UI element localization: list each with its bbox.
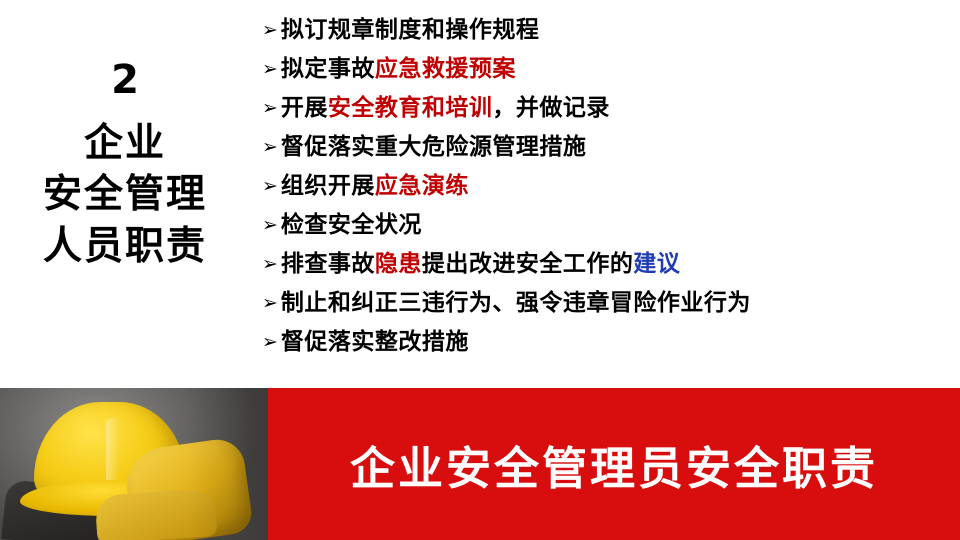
bullet-segment: 督促落实整改措施 <box>281 329 469 355</box>
bullet-item: ➢督促落实重大危险源管理措施 <box>262 133 952 166</box>
bullet-segment: ，并做记录 <box>492 95 610 121</box>
photo-vignette <box>0 388 268 540</box>
band-title-text: 企业安全管理员安全职责 <box>350 432 878 497</box>
bullet-item: ➢制止和纠正三违行为、强令违章冒险作业行为 <box>262 289 952 322</box>
bullet-arrow-icon: ➢ <box>262 138 278 157</box>
bullet-segment: 隐患 <box>375 251 422 277</box>
bullet-segment: 应急救援预案 <box>375 56 516 82</box>
left-title-panel: 2 企业 安全管理 人员职责 <box>0 0 250 388</box>
helmet-photo <box>0 388 268 540</box>
bullet-item: ➢拟定事故应急救援预案 <box>262 55 952 88</box>
bullet-segment: 排查事故 <box>281 251 375 277</box>
bullet-segment: 拟定事故 <box>281 56 375 82</box>
bullet-item: ➢督促落实整改措施 <box>262 328 952 361</box>
bullet-text: 拟订规章制度和操作规程 <box>281 16 540 46</box>
bullet-arrow-icon: ➢ <box>262 177 278 196</box>
bullet-arrow-icon: ➢ <box>262 255 278 274</box>
bullet-segment: 督促落实重大危险源管理措施 <box>281 134 587 160</box>
section-title-line-2: 安全管理 <box>43 169 207 220</box>
bullet-arrow-icon: ➢ <box>262 294 278 313</box>
bullet-segment: 拟订规章制度和操作规程 <box>281 17 540 43</box>
section-number: 2 <box>111 60 139 100</box>
bullet-list: ➢拟订规章制度和操作规程➢拟定事故应急救援预案➢开展安全教育和培训，并做记录➢督… <box>262 16 952 367</box>
bullet-arrow-icon: ➢ <box>262 216 278 235</box>
bullet-text: 检查安全状况 <box>281 211 422 241</box>
bullet-segment: 检查安全状况 <box>281 212 422 238</box>
bullet-item: ➢拟订规章制度和操作规程 <box>262 16 952 49</box>
bullet-item: ➢开展安全教育和培训，并做记录 <box>262 94 952 127</box>
section-title-line-1: 企业 <box>84 118 166 169</box>
band-title: 企业安全管理员安全职责 <box>268 388 960 540</box>
bullet-arrow-icon: ➢ <box>262 333 278 352</box>
bullet-item: ➢组织开展应急演练 <box>262 172 952 205</box>
slide-root: 2 企业 安全管理 人员职责 ➢拟订规章制度和操作规程➢拟定事故应急救援预案➢开… <box>0 0 960 540</box>
bullet-segment: 开展 <box>281 95 328 121</box>
bullet-item: ➢排查事故隐患提出改进安全工作的建议 <box>262 250 952 283</box>
bottom-band: 企业安全管理员安全职责 <box>0 388 960 540</box>
bullet-text: 拟定事故应急救援预案 <box>281 55 516 85</box>
bullet-arrow-icon: ➢ <box>262 99 278 118</box>
bullet-text: 开展安全教育和培训，并做记录 <box>281 94 610 124</box>
bullet-segment: 建议 <box>633 251 680 277</box>
bullet-text: 组织开展应急演练 <box>281 172 469 202</box>
bullet-text: 排查事故隐患提出改进安全工作的建议 <box>281 250 681 280</box>
bullet-segment: 组织开展 <box>281 173 375 199</box>
bullet-item: ➢检查安全状况 <box>262 211 952 244</box>
bullet-segment: 安全教育和培训 <box>328 95 493 121</box>
bullet-text: 制止和纠正三违行为、强令违章冒险作业行为 <box>281 289 751 319</box>
bullet-segment: 制止和纠正三违行为、强令违章冒险作业行为 <box>281 290 751 316</box>
bullet-arrow-icon: ➢ <box>262 21 278 40</box>
bullet-text: 督促落实整改措施 <box>281 328 469 358</box>
bullet-text: 督促落实重大危险源管理措施 <box>281 133 587 163</box>
bullet-segment: 应急演练 <box>375 173 469 199</box>
bullet-arrow-icon: ➢ <box>262 60 278 79</box>
bullet-segment: 提出改进安全工作的 <box>422 251 634 277</box>
section-title-line-3: 人员职责 <box>43 221 207 272</box>
